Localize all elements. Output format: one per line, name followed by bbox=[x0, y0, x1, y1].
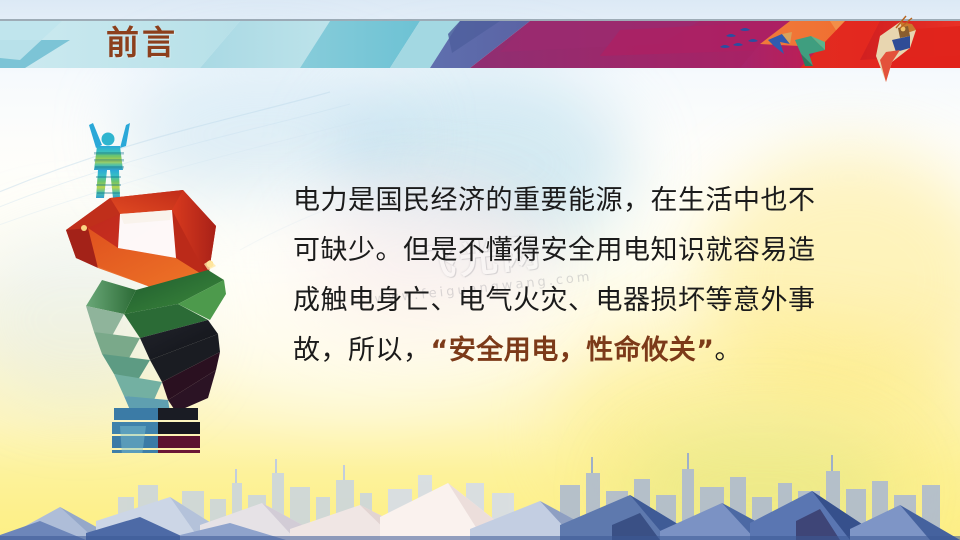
highlighted-quote: “安全用电，性命攸关” bbox=[431, 335, 715, 366]
body-line-4-suffix: 。 bbox=[715, 335, 743, 366]
page-title: 前言 bbox=[106, 21, 178, 65]
lightbulb-illustration bbox=[58, 108, 248, 453]
body-line-4: 故，所以，“安全用电，性命攸关”。 bbox=[293, 326, 893, 376]
person-arms-raised bbox=[89, 123, 130, 198]
flying-birds bbox=[700, 14, 960, 84]
body-line-1: 电力是国民经济的重要能源，在生活中也不 bbox=[293, 176, 893, 226]
header-banner: 前言 bbox=[0, 0, 960, 96]
skyline-polygons bbox=[0, 425, 960, 540]
bulb-glass bbox=[66, 190, 216, 288]
body-line-2: 可缺少。但是不懂得安全用电知识就容易造 bbox=[293, 226, 893, 276]
city-skyline bbox=[0, 425, 960, 540]
body-paragraph: 电力是国民经济的重要能源，在生活中也不 可缺少。但是不懂得安全用电知识就容易造 … bbox=[293, 176, 893, 376]
body-line-3: 成触电身亡、电气火灾、电器损坏等意外事 bbox=[293, 276, 893, 326]
lightbulb-polygons bbox=[58, 108, 248, 453]
body-line-4-prefix: 故，所以， bbox=[293, 335, 431, 366]
slide-canvas: 前言 bbox=[0, 0, 960, 540]
bulb-filament bbox=[86, 270, 226, 412]
